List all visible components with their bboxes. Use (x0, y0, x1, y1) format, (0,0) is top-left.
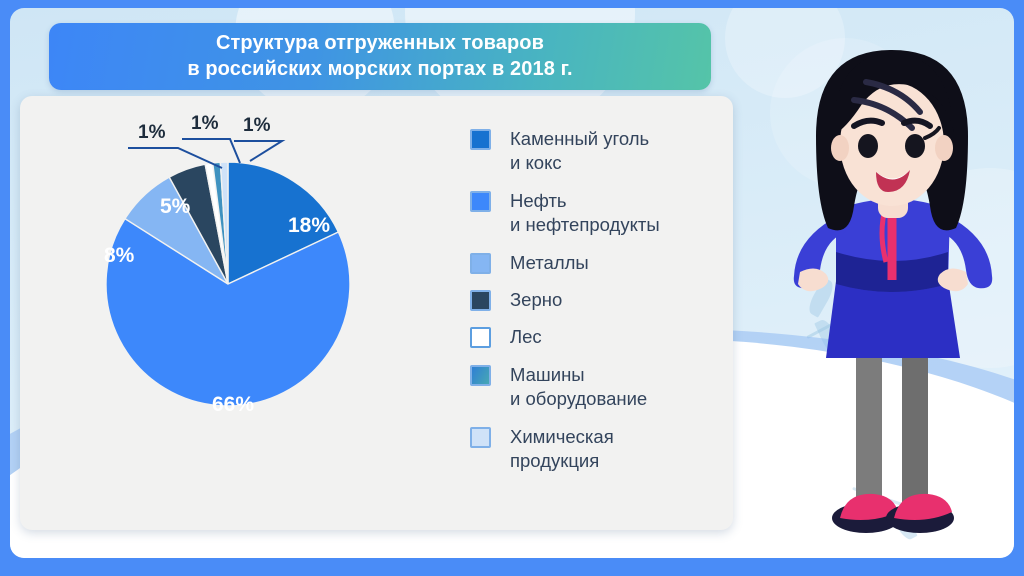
pie-chart-svg (104, 160, 352, 408)
legend-swatch-icon (470, 290, 491, 311)
legend-item-label: Зерно (510, 288, 562, 312)
legend-item[interactable]: Металлы (470, 251, 720, 275)
pie-value-label: 5% (160, 195, 190, 219)
legend-swatch-icon (470, 191, 491, 212)
pie-callout-label: 1% (243, 115, 270, 137)
legend-item[interactable]: Зерно (470, 288, 720, 312)
legend-item-label: Химическая продукция (510, 425, 614, 474)
character-leg-right (902, 350, 928, 510)
legend-swatch-icon (470, 253, 491, 274)
pie-value-label: 66% (212, 393, 254, 417)
legend-item[interactable]: Нефть и нефтепродукты (470, 189, 720, 238)
pie-slice-group (106, 162, 350, 406)
legend-item-label: Машины и оборудование (510, 363, 647, 412)
legend-swatch-icon (470, 327, 491, 348)
character-hand-left (798, 268, 828, 291)
legend-swatch-icon (470, 129, 491, 150)
legend-item-label: Нефть и нефтепродукты (510, 189, 660, 238)
pie-value-label: 18% (288, 214, 330, 238)
title-line-1: Структура отгруженных товаров (216, 32, 544, 54)
character-eye-left (858, 134, 878, 158)
legend-item[interactable]: Лес (470, 325, 720, 349)
legend-swatch-icon (470, 427, 491, 448)
title-banner: Структура отгруженных товаров в российск… (49, 23, 711, 90)
legend-swatch-icon (470, 365, 491, 386)
infographic-slide: Структура отгруженных товаров в российск… (0, 0, 1024, 576)
pie-value-label: 8% (104, 244, 134, 268)
legend-item-label: Металлы (510, 251, 589, 275)
legend-item-label: Каменный уголь и кокс (510, 127, 649, 176)
pie-chart (104, 160, 352, 408)
legend-item[interactable]: Химическая продукция (470, 425, 720, 474)
character-ear-right (935, 135, 953, 161)
chart-legend: Каменный уголь и коксНефть и нефтепродук… (470, 127, 720, 486)
title-line-2: в российских морских портах в 2018 г. (187, 58, 572, 80)
character-ear-left (831, 135, 849, 161)
legend-item-label: Лес (510, 325, 542, 349)
pie-callout-label: 1% (191, 113, 218, 135)
legend-item[interactable]: Машины и оборудование (470, 363, 720, 412)
pie-callout-label: 1% (138, 122, 165, 144)
character-leg-left (856, 350, 882, 510)
character-illustration (770, 40, 1024, 560)
legend-item[interactable]: Каменный уголь и кокс (470, 127, 720, 176)
character-eye-right (905, 134, 925, 158)
page-title: Структура отгруженных товаров в российск… (187, 31, 572, 81)
